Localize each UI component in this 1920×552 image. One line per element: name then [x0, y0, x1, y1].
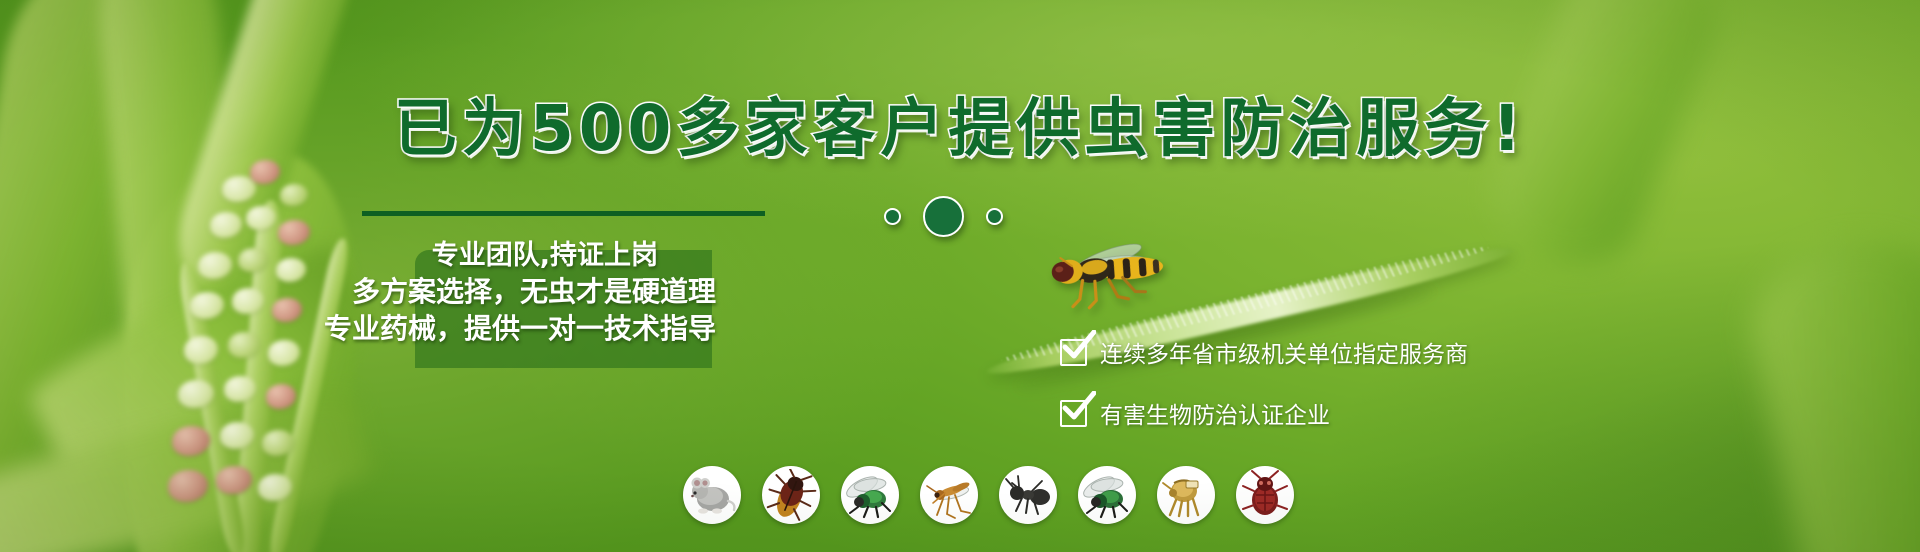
pest-icon-mouse[interactable]: [683, 466, 741, 524]
decorative-dot-large: [923, 196, 964, 237]
ant-icon: [1002, 469, 1054, 521]
mosquito-icon: [923, 469, 975, 521]
checkbox-checked-icon: [1060, 339, 1087, 366]
slogan-line-3: 专业药械，提供一对一技术指导: [324, 315, 716, 343]
housefly-icon: [1081, 469, 1133, 521]
pest-icon-ant[interactable]: [999, 466, 1057, 524]
cockroach-icon: [765, 469, 817, 521]
pest-icon-housefly[interactable]: [1078, 466, 1136, 524]
decorative-dot-small: [986, 208, 1003, 225]
bedbug-icon: [1239, 469, 1291, 521]
pest-type-icon-row: [683, 466, 1294, 524]
slogan-line-1: 专业团队,持证上岗: [432, 242, 658, 269]
blowfly-icon: [844, 469, 896, 521]
credential-label: 有害生物防治认证企业: [1100, 396, 1330, 430]
pest-icon-blowfly[interactable]: [841, 466, 899, 524]
page-title: 已为500多家客户提供虫害防治服务!: [0, 78, 1920, 169]
mouse-icon: [686, 469, 738, 521]
slogan-line-2: 多方案选择，无虫才是硬道理: [352, 278, 716, 306]
pest-icon-flea[interactable]: [1157, 466, 1215, 524]
checkbox-checked-icon: [1060, 400, 1087, 427]
slogan-list: 专业团队,持证上岗 多方案选择，无虫才是硬道理 专业药械，提供一对一技术指导: [338, 212, 718, 372]
pest-icon-cockroach[interactable]: [762, 466, 820, 524]
decorative-dots: [884, 196, 1003, 237]
decorative-dot-small: [884, 208, 901, 225]
pest-icon-mosquito[interactable]: [920, 466, 978, 524]
pest-icon-bedbug[interactable]: [1236, 466, 1294, 524]
credentials-checklist: 连续多年省市级机关单位指定服务商 有害生物防治认证企业: [1060, 335, 1468, 430]
list-item: 连续多年省市级机关单位指定服务商: [1060, 335, 1468, 369]
flea-icon: [1160, 469, 1212, 521]
credential-label: 连续多年省市级机关单位指定服务商: [1100, 335, 1468, 369]
pest-control-promo-banner: 已为500多家客户提供虫害防治服务! 专业团队,持证上岗 多方案选择，无虫才是硬…: [0, 0, 1920, 552]
list-item: 有害生物防治认证企业: [1060, 396, 1468, 430]
